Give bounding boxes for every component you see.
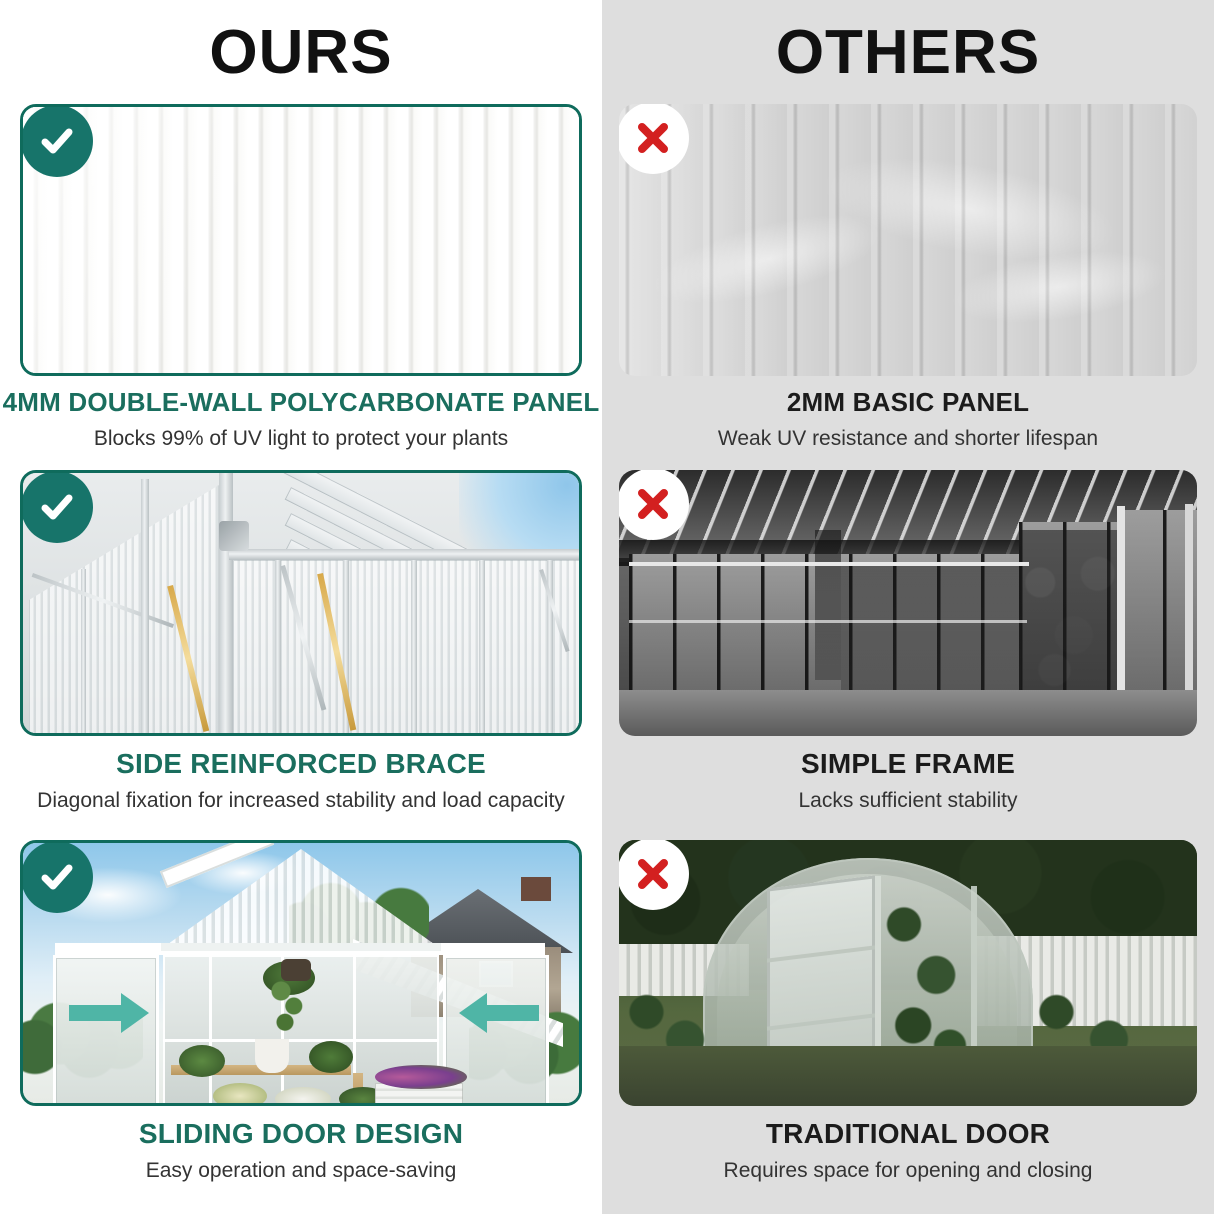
arrow-right-icon — [67, 991, 151, 1040]
image-frame-traditional-door — [619, 840, 1197, 1106]
art-old-greenhouse — [619, 470, 1197, 736]
image-frame-side-brace — [20, 470, 582, 736]
caption-sliding-door: SLIDING DOOR DESIGN Easy operation and s… — [0, 1106, 602, 1183]
caption-title: TRADITIONAL DOOR — [602, 1118, 1214, 1150]
column-heading-others: OTHERS — [602, 0, 1214, 104]
caption-subtitle: Blocks 99% of UV light to protect your p… — [0, 426, 602, 451]
image-frame-basic-panel — [619, 104, 1197, 376]
row-frame-others: SIMPLE FRAME Lacks sufficient stability — [602, 470, 1214, 840]
caption-basic-panel: 2MM BASIC PANEL Weak UV resistance and s… — [602, 376, 1214, 451]
caption-simple-frame: SIMPLE FRAME Lacks sufficient stability — [602, 736, 1214, 813]
check-circle-icon — [21, 471, 93, 543]
row-brace-ours: SIDE REINFORCED BRACE Diagonal fixation … — [0, 470, 602, 840]
caption-subtitle: Lacks sufficient stability — [602, 788, 1214, 813]
image-frame-polycarbonate-panel — [20, 104, 582, 376]
caption-title: SIMPLE FRAME — [602, 748, 1214, 780]
caption-title: SIDE REINFORCED BRACE — [0, 748, 602, 780]
check-circle-icon — [21, 841, 93, 913]
art-dirty-basic-panel — [619, 104, 1197, 376]
caption-title: 4MM DOUBLE-WALL POLYCARBONATE PANEL — [0, 388, 602, 418]
column-ours: OURS 4MM DOUBLE-WALL POLYCARBONATE PANEL… — [0, 0, 602, 1214]
row-panel-others: 2MM BASIC PANEL Weak UV resistance and s… — [602, 104, 1214, 470]
caption-subtitle: Requires space for opening and closing — [602, 1158, 1214, 1183]
check-circle-icon — [21, 105, 93, 177]
column-heading-ours: OURS — [0, 0, 602, 104]
comparison-board: OURS 4MM DOUBLE-WALL POLYCARBONATE PANEL… — [0, 0, 1214, 1214]
caption-traditional-door: TRADITIONAL DOOR Requires space for open… — [602, 1106, 1214, 1183]
row-panel-ours: 4MM DOUBLE-WALL POLYCARBONATE PANEL Bloc… — [0, 104, 602, 470]
column-others: OTHERS 2MM BASIC PANEL Weak UV resistanc… — [602, 0, 1214, 1214]
caption-polycarbonate-panel: 4MM DOUBLE-WALL POLYCARBONATE PANEL Bloc… — [0, 376, 602, 451]
art-greenhouse-interior — [23, 473, 579, 733]
arrow-left-icon — [457, 991, 541, 1040]
art-sliding-door-greenhouse — [23, 843, 579, 1103]
image-frame-simple-frame — [619, 470, 1197, 736]
row-door-others: TRADITIONAL DOOR Requires space for open… — [602, 840, 1214, 1214]
caption-title: SLIDING DOOR DESIGN — [0, 1118, 602, 1150]
caption-title: 2MM BASIC PANEL — [602, 388, 1214, 418]
caption-subtitle: Diagonal fixation for increased stabilit… — [0, 788, 602, 813]
art-arched-greenhouse — [619, 840, 1197, 1106]
caption-subtitle: Weak UV resistance and shorter lifespan — [602, 426, 1214, 451]
art-clean-polycarbonate-panel — [23, 107, 579, 373]
image-frame-sliding-door — [20, 840, 582, 1106]
row-door-ours: SLIDING DOOR DESIGN Easy operation and s… — [0, 840, 602, 1214]
caption-subtitle: Easy operation and space-saving — [0, 1158, 602, 1183]
caption-side-brace: SIDE REINFORCED BRACE Diagonal fixation … — [0, 736, 602, 813]
